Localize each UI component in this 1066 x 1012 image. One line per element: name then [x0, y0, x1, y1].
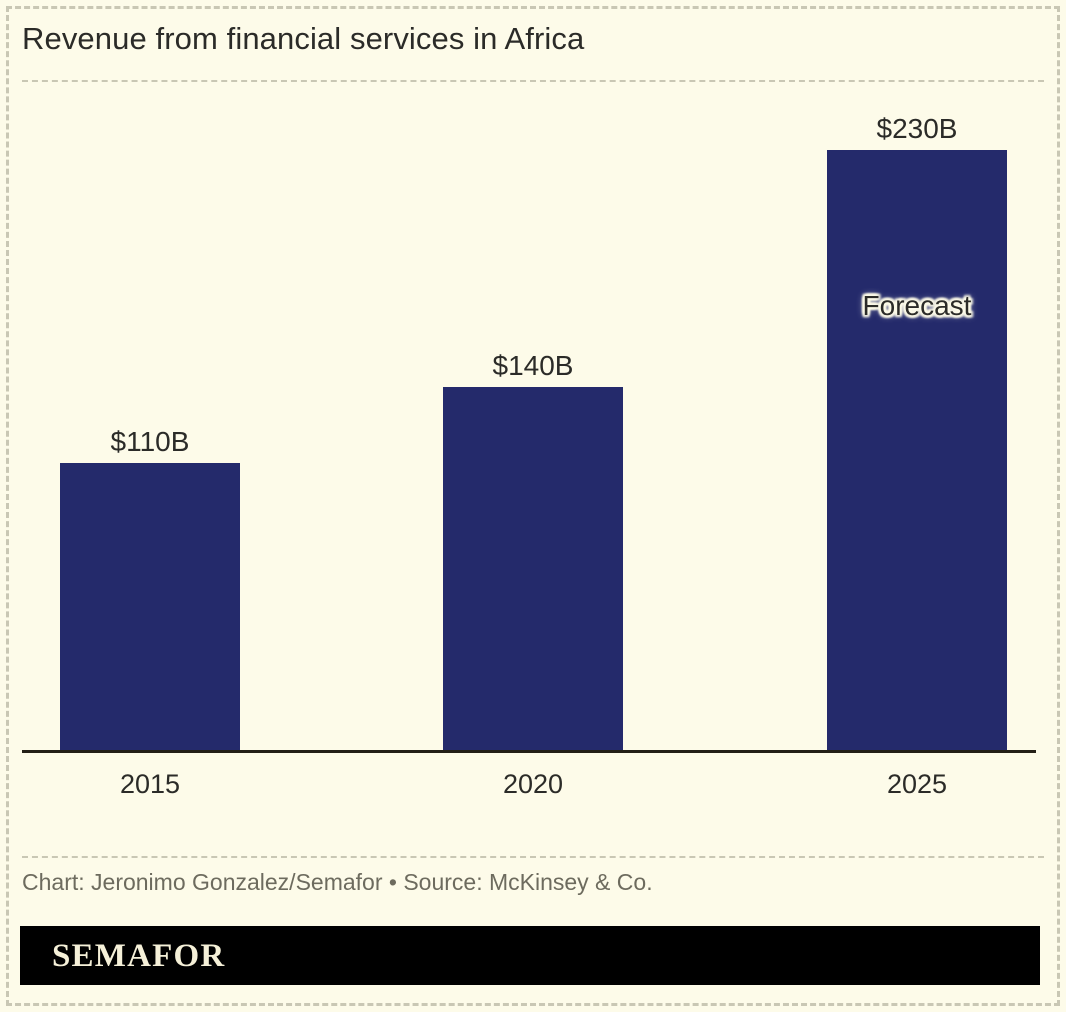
- chart-title: Revenue from financial services in Afric…: [22, 20, 584, 58]
- card-border-top: [6, 6, 1060, 9]
- bar-value-2015: $110B: [60, 426, 240, 458]
- x-axis-line: [22, 750, 1036, 753]
- plot-area: $110B 2015 $140B 2020 $230B Forecast 202…: [0, 86, 1066, 752]
- bar-2025: [827, 150, 1007, 750]
- credit-divider: [22, 856, 1044, 858]
- semafor-wordmark: SEMAFOR: [52, 938, 225, 975]
- x-tick-2020: 2020: [443, 769, 623, 800]
- bar-value-2025: $230B: [827, 113, 1007, 145]
- chart-credit: Chart: Jeronimo Gonzalez/Semafor • Sourc…: [22, 869, 653, 896]
- forecast-annotation: Forecast: [827, 290, 1007, 322]
- title-divider: [22, 80, 1044, 82]
- bar-2020: [443, 387, 623, 750]
- card-border-bottom: [6, 1003, 1060, 1006]
- chart-card: Revenue from financial services in Afric…: [0, 0, 1066, 1012]
- x-tick-2015: 2015: [60, 769, 240, 800]
- bar-2015: [60, 463, 240, 750]
- semafor-logo-bar: SEMAFOR: [20, 926, 1040, 985]
- x-tick-2025: 2025: [827, 769, 1007, 800]
- bar-value-2020: $140B: [443, 350, 623, 382]
